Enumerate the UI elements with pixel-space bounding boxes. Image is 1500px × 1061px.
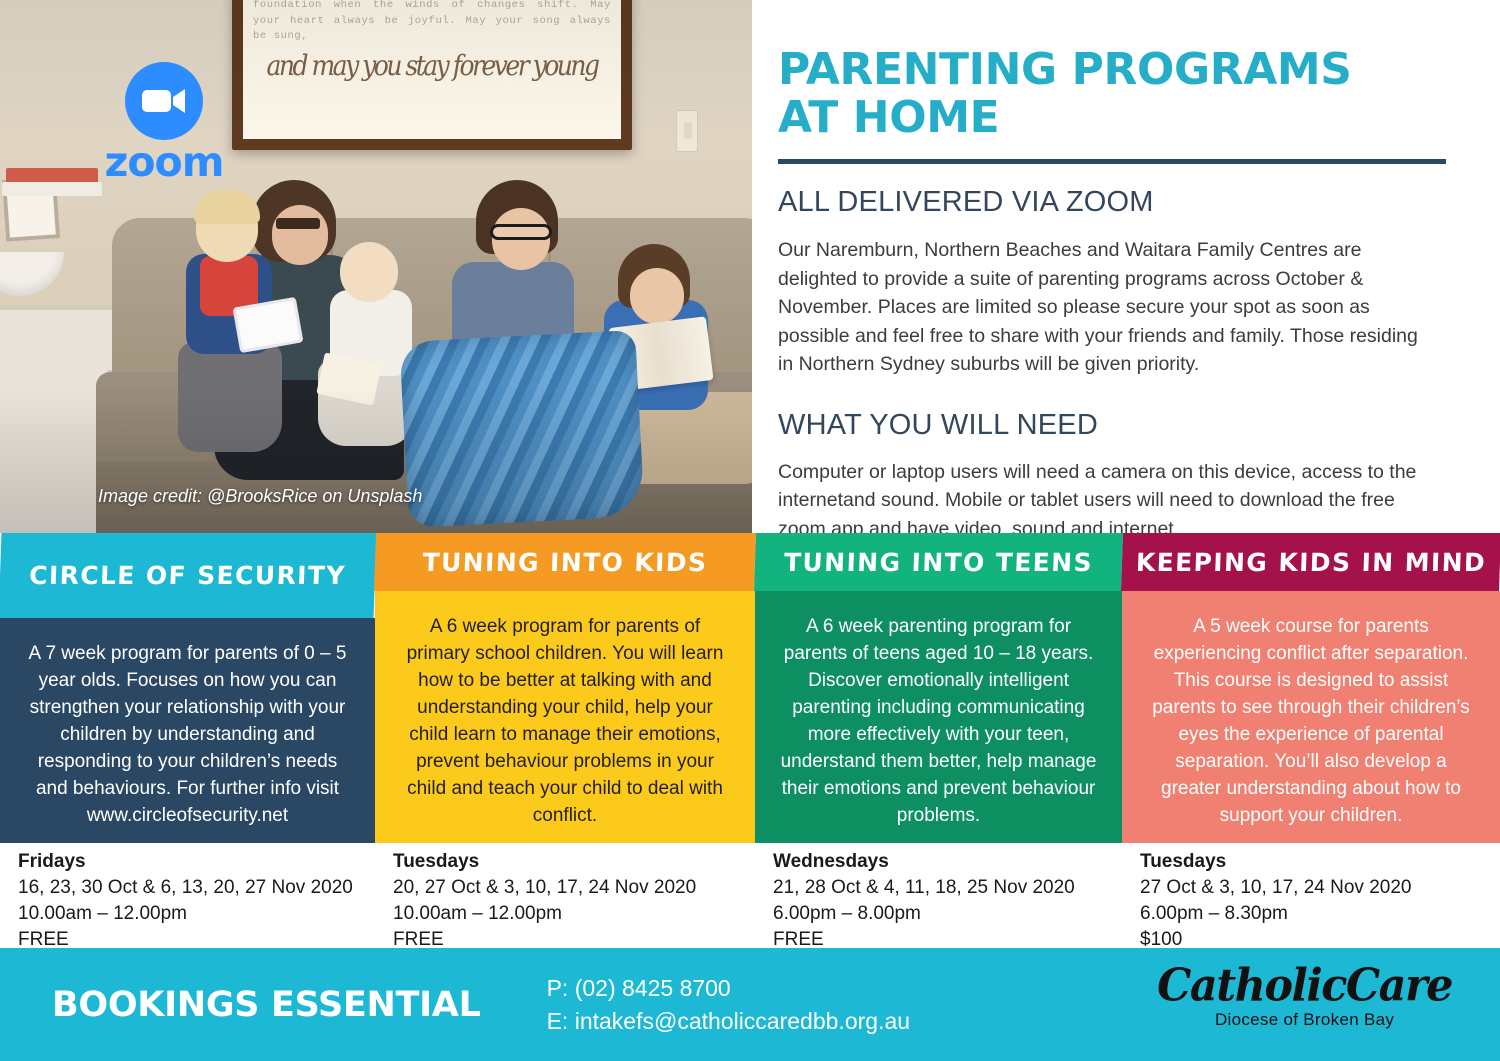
schedule-circle-of-security: Fridays 16, 23, 30 Oct & 6, 13, 20, 27 N… <box>0 843 375 948</box>
bookings-essential-label: BOOKINGS ESSENTIAL <box>52 985 481 1025</box>
schedule-day-2: Tuesdays <box>393 849 737 875</box>
program-description-tuning-into-kids: A 6 week program for parents of primary … <box>375 591 755 843</box>
intro-paragraph: Our Naremburn, Northern Beaches and Wait… <box>778 236 1428 379</box>
program-title-circle-of-security: CIRCLE OF SECURITY <box>0 533 376 618</box>
schedule-time-3: 6.00pm – 8.00pm <box>773 901 1104 927</box>
top-section: and be strong. May your hands always be … <box>0 0 1500 533</box>
subheading-delivery: ALL DELIVERED VIA ZOOM <box>778 186 1438 219</box>
subheading-requirements: WHAT YOU WILL NEED <box>778 409 1438 442</box>
email-address[interactable]: E: intakefs@catholiccaredbb.org.au <box>547 1005 910 1038</box>
catholiccare-logo: CatholicCare Diocese of Broken Bay <box>1157 964 1452 1030</box>
schedule-dates-4: 27 Oct & 3, 10, 17, 24 Nov 2020 <box>1140 875 1482 901</box>
schedule-tuning-into-teens: Wednesdays 21, 28 Oct & 4, 11, 18, 25 No… <box>755 843 1122 948</box>
program-column-circle-of-security: CIRCLE OF SECURITY A 7 week program for … <box>0 533 375 843</box>
schedule-day-4: Tuesdays <box>1140 849 1482 875</box>
program-title-keeping-kids-in-mind: KEEPING KIDS IN MIND <box>1121 533 1500 591</box>
schedule-dates-3: 21, 28 Oct & 4, 11, 18, 25 Nov 2020 <box>773 875 1104 901</box>
schedule-time-1: 10.00am – 12.00pm <box>18 901 357 927</box>
catholiccare-logo-name: CatholicCare <box>1157 963 1452 1010</box>
video-camera-icon <box>125 62 203 140</box>
footer-bar: BOOKINGS ESSENTIAL P: (02) 8425 8700 E: … <box>0 948 1500 1061</box>
contact-details: P: (02) 8425 8700 E: intakefs@catholicca… <box>547 972 910 1038</box>
program-title-tuning-into-kids: TUNING INTO KIDS <box>374 533 756 591</box>
program-description-tuning-into-teens: A 6 week parenting program for parents o… <box>755 591 1122 843</box>
phone-number[interactable]: P: (02) 8425 8700 <box>547 972 910 1005</box>
schedule-dates-1: 16, 23, 30 Oct & 6, 13, 20, 27 Nov 2020 <box>18 875 357 901</box>
program-description-keeping-kids-in-mind: A 5 week course for parents experiencing… <box>1122 591 1500 843</box>
program-column-tuning-into-kids: TUNING INTO KIDS A 6 week program for pa… <box>375 533 755 843</box>
zoom-wordmark: zoom <box>94 142 234 183</box>
program-description-circle-of-security: A 7 week program for parents of 0 – 5 ye… <box>0 618 375 843</box>
hero-photo: and be strong. May your hands always be … <box>0 0 752 533</box>
poster-root: and be strong. May your hands always be … <box>0 0 1500 1061</box>
program-columns: CIRCLE OF SECURITY A 7 week program for … <box>0 533 1500 843</box>
schedule-dates-2: 20, 27 Oct & 3, 10, 17, 24 Nov 2020 <box>393 875 737 901</box>
title-divider <box>778 159 1446 164</box>
program-column-tuning-into-teens: TUNING INTO TEENS A 6 week parenting pro… <box>755 533 1122 843</box>
requirements-paragraph: Computer or laptop users will need a cam… <box>778 458 1428 544</box>
schedule-tuning-into-kids: Tuesdays 20, 27 Oct & 3, 10, 17, 24 Nov … <box>375 843 755 948</box>
schedule-day-1: Fridays <box>18 849 357 875</box>
schedule-time-2: 10.00am – 12.00pm <box>393 901 737 927</box>
image-credit: Image credit: @BrooksRice on Unsplash <box>98 486 422 507</box>
schedule-time-4: 6.00pm – 8.30pm <box>1140 901 1482 927</box>
schedule-keeping-kids-in-mind: Tuesdays 27 Oct & 3, 10, 17, 24 Nov 2020… <box>1122 843 1500 948</box>
schedule-row: Fridays 16, 23, 30 Oct & 6, 13, 20, 27 N… <box>0 843 1500 948</box>
program-column-keeping-kids-in-mind: KEEPING KIDS IN MIND A 5 week course for… <box>1122 533 1500 843</box>
program-title-tuning-into-teens: TUNING INTO TEENS <box>754 533 1123 591</box>
page-title: PARENTING PROGRAMS AT HOME <box>778 46 1438 142</box>
schedule-day-3: Wednesdays <box>773 849 1104 875</box>
page-title-line-2: AT HOME <box>778 94 1438 142</box>
zoom-logo: zoom <box>94 62 234 183</box>
intro-text-panel: PARENTING PROGRAMS AT HOME ALL DELIVERED… <box>752 0 1500 533</box>
catholiccare-logo-subtitle: Diocese of Broken Bay <box>1157 1010 1452 1030</box>
page-title-line-1: PARENTING PROGRAMS <box>778 46 1438 94</box>
